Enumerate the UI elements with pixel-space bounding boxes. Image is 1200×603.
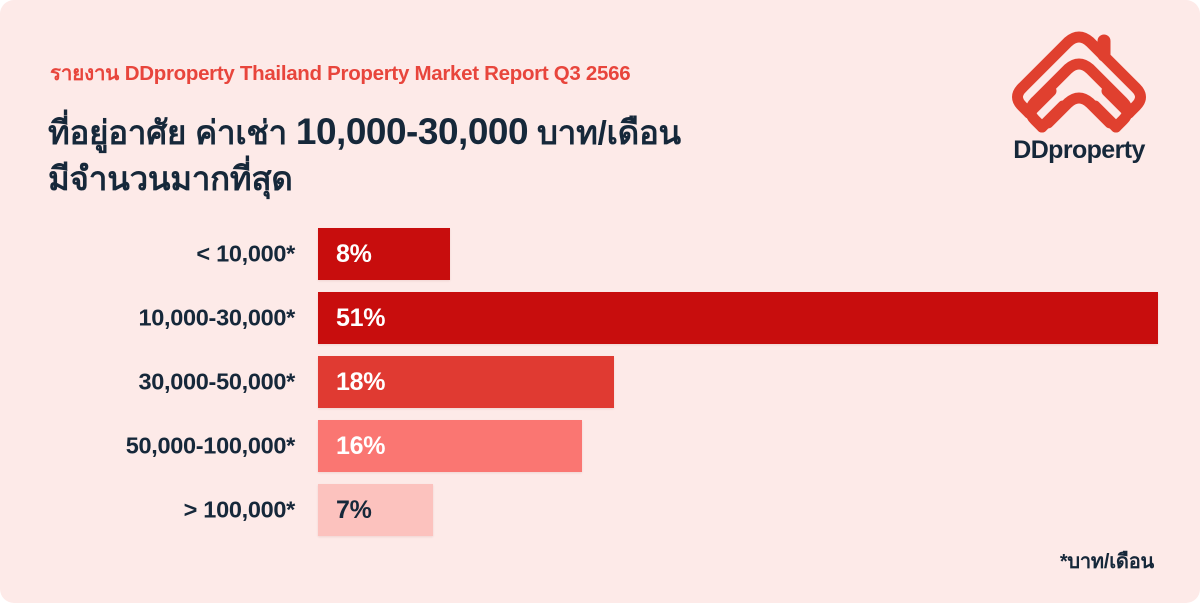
ddproperty-logo: DDproperty xyxy=(994,24,1164,176)
report-eyebrow: รายงาน DDproperty Thailand Property Mark… xyxy=(50,62,630,87)
bar-category-label: > 100,000* xyxy=(184,497,295,524)
ddproperty-wordmark: DDproperty xyxy=(994,138,1164,163)
headline-line-2: มีจำนวนมากที่สุด xyxy=(48,157,848,201)
bar-category-label: 30,000-50,000* xyxy=(138,369,295,396)
bar-category-label: 50,000-100,000* xyxy=(126,433,295,460)
infographic-canvas: รายงาน DDproperty Thailand Property Mark… xyxy=(0,0,1200,603)
bar-segment: 16% xyxy=(318,420,582,472)
chart-row: < 10,000* 8% xyxy=(0,222,1200,286)
bar-track: 7% xyxy=(318,478,433,542)
bar-segment: 51% xyxy=(318,292,1158,344)
ddproperty-roof-chevron-icon xyxy=(1011,24,1147,136)
bar-segment: 18% xyxy=(318,356,614,408)
bar-segment: 7% xyxy=(318,484,433,536)
eyebrow-report-name: DDproperty Thailand Property Market Repo… xyxy=(125,62,631,85)
bar-track: 8% xyxy=(318,222,450,286)
bar-value-label: 7% xyxy=(336,498,372,523)
bar-category-label: < 10,000* xyxy=(196,241,295,268)
chart-row: > 100,000* 7% xyxy=(0,478,1200,542)
footnote-unit-note: *บาท/เดือน xyxy=(1060,545,1154,577)
bar-value-label: 16% xyxy=(336,434,385,459)
headline-highlight-range: 10,000-30,000 xyxy=(296,111,528,152)
bar-track: 18% xyxy=(318,350,614,414)
bar-value-label: 8% xyxy=(336,242,372,267)
bar-value-label: 51% xyxy=(336,306,385,331)
rental-price-bar-chart: < 10,000* 8% 10,000-30,000* 51% 30,000-5… xyxy=(0,222,1200,542)
chart-row: 10,000-30,000* 51% xyxy=(0,286,1200,350)
headline-suffix: บาท/เดือน xyxy=(528,114,681,151)
chart-row: 30,000-50,000* 18% xyxy=(0,350,1200,414)
bar-segment: 8% xyxy=(318,228,450,280)
headline-line-1: ที่อยู่อาศัย ค่าเช่า 10,000-30,000 บาท/เ… xyxy=(48,108,848,157)
bar-track: 16% xyxy=(318,414,582,478)
bar-category-label: 10,000-30,000* xyxy=(138,305,295,332)
bar-value-label: 18% xyxy=(336,370,385,395)
headline-prefix: ที่อยู่อาศัย ค่าเช่า xyxy=(48,114,296,151)
chart-row: 50,000-100,000* 16% xyxy=(0,414,1200,478)
eyebrow-thai-label: รายงาน xyxy=(50,62,119,85)
bar-track: 51% xyxy=(318,286,1158,350)
page-title: ที่อยู่อาศัย ค่าเช่า 10,000-30,000 บาท/เ… xyxy=(48,108,848,200)
